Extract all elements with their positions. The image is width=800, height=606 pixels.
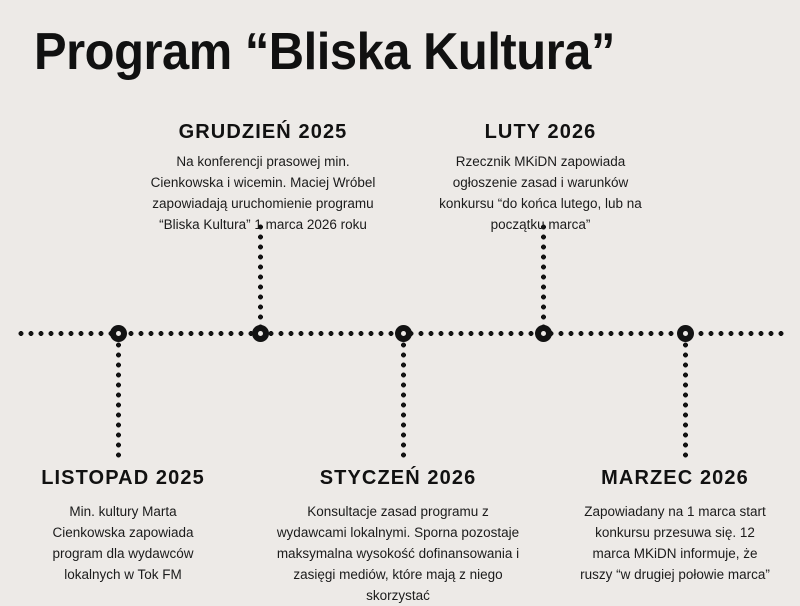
event-body-marzec: Zapowiadany na 1 marca start konkursu pr… <box>550 501 800 585</box>
connector-luty <box>541 222 546 330</box>
event-line: Rzecznik MKiDN zapowiada <box>413 151 668 172</box>
event-line: konkursu “do końca lutego, lub na <box>413 193 668 214</box>
event-line: początku marca” <box>413 214 668 235</box>
timeline-node-grudzien[interactable] <box>252 325 269 342</box>
event-marzec: MARZEC 2026 Zapowiadany na 1 marca start… <box>550 466 800 585</box>
event-heading-luty: LUTY 2026 <box>413 120 668 144</box>
timeline-node-listopad[interactable] <box>110 325 127 342</box>
event-line: zasięgi mediów, które mają z niego <box>253 564 543 585</box>
event-listopad: LISTOPAD 2025 Min. kultury Marta Cienkow… <box>3 466 243 585</box>
event-line: Na konferencji prasowej min. <box>128 151 398 172</box>
timeline-infographic: Program “Bliska Kultura” GRUDZIEŃ 2025 N… <box>0 0 800 600</box>
event-line: Cienkowska i wicemin. Maciej Wróbel <box>128 172 398 193</box>
timeline-node-styczen[interactable] <box>395 325 412 342</box>
event-line: skorzystać <box>253 585 543 606</box>
event-line: ogłoszenie zasad i warunków <box>413 172 668 193</box>
event-line: Min. kultury Marta <box>3 501 243 522</box>
event-heading-marzec: MARZEC 2026 <box>550 466 800 490</box>
event-line: “Bliska Kultura” 1 marca 2026 roku <box>128 214 398 235</box>
event-luty: LUTY 2026 Rzecznik MKiDN zapowiada ogłos… <box>413 120 668 235</box>
event-line: Zapowiadany na 1 marca start <box>550 501 800 522</box>
event-line: zapowiadają uruchomienie programu <box>128 193 398 214</box>
event-line: program dla wydawców <box>3 543 243 564</box>
connector-grudzien <box>258 222 263 330</box>
event-grudzien: GRUDZIEŃ 2025 Na konferencji prasowej mi… <box>128 120 398 235</box>
event-body-grudzien: Na konferencji prasowej min. Cienkowska … <box>128 151 398 235</box>
connector-listopad <box>116 340 121 458</box>
event-line: Cienkowska zapowiada <box>3 522 243 543</box>
event-line: wydawcami lokalnymi. Sporna pozostaje <box>253 522 543 543</box>
event-heading-listopad: LISTOPAD 2025 <box>3 466 243 490</box>
timeline-node-luty[interactable] <box>535 325 552 342</box>
event-line: maksymalna wysokość dofinansowania i <box>253 543 543 564</box>
connector-styczen <box>401 340 406 458</box>
event-heading-styczen: STYCZEŃ 2026 <box>253 466 543 490</box>
page-title: Program “Bliska Kultura” <box>34 22 615 82</box>
event-body-luty: Rzecznik MKiDN zapowiada ogłoszenie zasa… <box>413 151 668 235</box>
event-styczen: STYCZEŃ 2026 Konsultacje zasad programu … <box>253 466 543 606</box>
event-heading-grudzien: GRUDZIEŃ 2025 <box>128 120 398 144</box>
event-body-styczen: Konsultacje zasad programu z wydawcami l… <box>253 501 543 606</box>
event-line: ruszy “w drugiej połowie marca” <box>550 564 800 585</box>
event-line: lokalnych w Tok FM <box>3 564 243 585</box>
event-line: Konsultacje zasad programu z <box>253 501 543 522</box>
event-line: konkursu przesuwa się. 12 <box>550 522 800 543</box>
event-line: marca MKiDN informuje, że <box>550 543 800 564</box>
event-body-listopad: Min. kultury Marta Cienkowska zapowiada … <box>3 501 243 585</box>
connector-marzec <box>683 340 688 458</box>
timeline-node-marzec[interactable] <box>677 325 694 342</box>
